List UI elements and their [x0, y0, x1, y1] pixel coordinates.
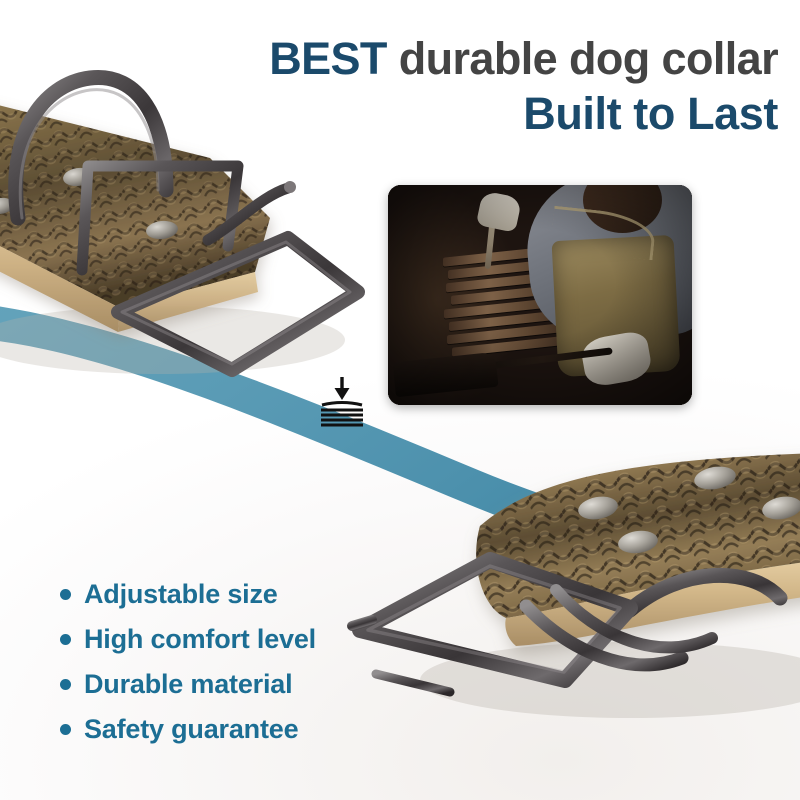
headline-emphasis-word: BEST: [269, 33, 387, 84]
headline-line-1-rest: durable dog collar: [387, 33, 778, 84]
bullet-dot-icon: [60, 679, 71, 690]
feature-label: Adjustable size: [84, 579, 278, 610]
feature-item-high-comfort-level: High comfort level: [60, 617, 316, 662]
feature-list: Adjustable size High comfort level Durab…: [60, 572, 316, 752]
feature-item-adjustable-size: Adjustable size: [60, 572, 316, 617]
blacksmith-inset-photo: [388, 185, 692, 405]
product-collar-bottom: [330, 430, 800, 750]
feature-label: High comfort level: [84, 624, 316, 655]
layered-compression-icon: [312, 375, 372, 427]
headline-line-2: Built to Last: [158, 91, 778, 137]
feature-label: Durable material: [84, 669, 292, 700]
feature-label: Safety guarantee: [84, 714, 298, 745]
headline-line-1: BEST durable dog collar: [158, 36, 778, 82]
bullet-dot-icon: [60, 634, 71, 645]
headline-block: BEST durable dog collar Built to Last: [158, 36, 778, 137]
bullet-dot-icon: [60, 724, 71, 735]
bullet-dot-icon: [60, 589, 71, 600]
feature-item-durable-material: Durable material: [60, 662, 316, 707]
feature-item-safety-guarantee: Safety guarantee: [60, 707, 316, 752]
promo-canvas: BEST durable dog collar Built to Last Ad…: [0, 0, 800, 800]
